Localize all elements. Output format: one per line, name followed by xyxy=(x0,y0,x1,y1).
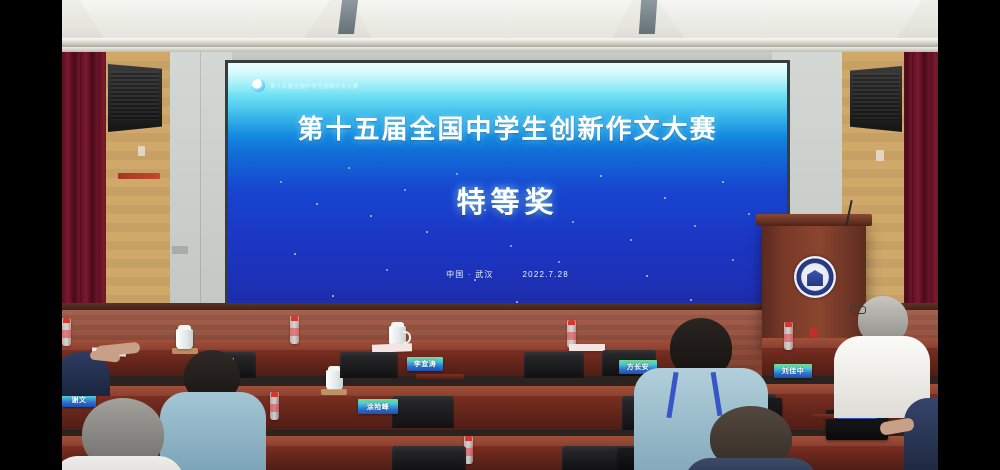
slide-logo: 第十五届全国中学生创新作文大赛 xyxy=(252,79,359,92)
cup-saucer-2 xyxy=(321,389,347,395)
nameplate-text: 刘佳中 xyxy=(782,366,805,376)
paper-sheet-3 xyxy=(569,344,605,351)
nameplate-text: 方长安 xyxy=(627,362,650,372)
wall-speaker-left xyxy=(108,64,162,132)
wall-plate-right xyxy=(876,150,884,161)
eyeglasses-icon xyxy=(850,306,866,314)
chair-mid-1[interactable] xyxy=(392,396,454,428)
slide-logo-text: 第十五届全国中学生创新作文大赛 xyxy=(270,82,359,90)
nameplate-text: 涂险峰 xyxy=(367,402,390,412)
ceiling-cornice-upper xyxy=(62,38,938,47)
conference-hall-photo: 第十五届全国中学生创新作文大赛 第十五届全国中学生创新作文大赛 特等奖 中国 ·… xyxy=(62,0,938,470)
wall-speaker-right xyxy=(850,66,902,132)
podium-indicator-light xyxy=(810,328,817,337)
chair-back-2[interactable] xyxy=(340,352,398,378)
wall-plate-left xyxy=(138,146,145,156)
slide-date-value: 2022.7.28 xyxy=(523,270,569,279)
nameplate-text: 李宜涛 xyxy=(414,359,437,369)
letterbox-bar-right xyxy=(938,0,1000,470)
water-bottle-6 xyxy=(270,392,279,420)
letterbox-bar-left xyxy=(0,0,62,470)
water-bottle-2 xyxy=(290,316,299,344)
gray-wall-left xyxy=(170,52,232,310)
nameplate-text: 谢文 xyxy=(72,395,87,405)
screenshot-root: 第十五届全国中学生创新作文大赛 第十五届全国中学生创新作文大赛 特等奖 中国 ·… xyxy=(0,0,1000,470)
nameplate-liyitao: 李宜涛 xyxy=(407,357,443,371)
water-bottle-1 xyxy=(62,318,71,346)
chair-front-1[interactable] xyxy=(392,446,466,470)
university-seal-icon xyxy=(794,256,836,298)
wall-sign-red xyxy=(118,173,160,179)
wall-switch-plate xyxy=(172,246,188,254)
slide-subtitle: 特等奖 xyxy=(228,179,787,221)
slide-logo-mark xyxy=(252,79,265,92)
slide-city: 武汉 xyxy=(475,270,493,279)
led-screen-frame: 第十五届全国中学生创新作文大赛 第十五届全国中学生创新作文大赛 特等奖 中国 ·… xyxy=(225,60,790,310)
chair-arm-1 xyxy=(416,374,464,379)
nameplate-tuxianfeng: 涂险峰 xyxy=(358,399,398,414)
slide-country: 中国 xyxy=(446,270,464,279)
led-screen: 第十五届全国中学生创新作文大赛 第十五届全国中学生创新作文大赛 特等奖 中国 ·… xyxy=(228,63,787,307)
chair-back-3[interactable] xyxy=(524,352,584,378)
slide-title: 第十五届全国中学生创新作文大赛 xyxy=(228,109,787,146)
water-bottle-4 xyxy=(784,322,793,350)
ceiling-vent-2 xyxy=(639,0,657,34)
slide-location-date: 中国 · 武汉 2022.7.28 xyxy=(228,269,787,280)
podium xyxy=(762,222,866,348)
tea-cup-1 xyxy=(176,329,193,349)
nameplate-liujiazhong: 刘佳中 xyxy=(774,364,812,378)
slide-separator: · xyxy=(468,270,472,279)
podium-top xyxy=(756,214,872,226)
